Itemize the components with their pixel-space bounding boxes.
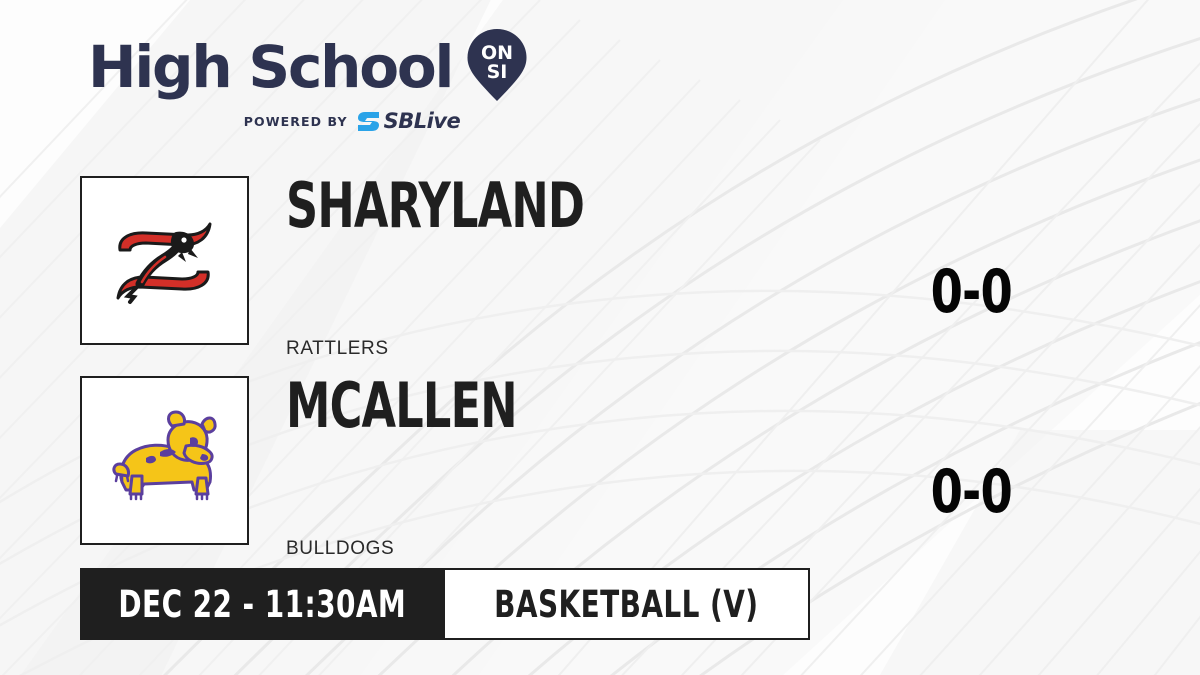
on-si-pin-icon: ON SI (466, 28, 528, 102)
sblive-bolt-icon (357, 111, 381, 132)
home-team-mascot: BULLDOGS (286, 538, 394, 560)
home-team-logo-box (80, 376, 249, 545)
powered-by-label: POWERED BY (244, 114, 348, 129)
home-team-record: 0-0 (931, 462, 1012, 522)
game-datetime-block: DEC 22 - 11:30AM (80, 568, 445, 640)
away-team-logo-inner (82, 178, 247, 343)
game-sport-text: BASKETBALL (V) (494, 583, 758, 626)
game-datetime-text: DEC 22 - 11:30AM (119, 583, 407, 626)
away-team-name: SHARYLAND (286, 175, 584, 237)
rattlesnake-s-logo-icon (102, 198, 227, 323)
pin-badge-line2: SI (487, 61, 508, 83)
away-team-record: 0-0 (931, 262, 1012, 322)
matchup-graphic: High School ON SI POWERED BY SBLive (0, 0, 1200, 675)
game-info-bar: DEC 22 - 11:30AM BASKETBALL (V) (80, 568, 810, 640)
game-sport-block: BASKETBALL (V) (445, 568, 810, 640)
home-team-logo-inner (82, 378, 247, 543)
away-team-mascot: RATTLERS (286, 338, 389, 360)
sblive-logo: SBLive (357, 111, 461, 132)
sblive-wordmark: SBLive (384, 111, 461, 132)
powered-by-row: POWERED BY SBLive (196, 111, 508, 132)
bulldog-logo-icon (102, 398, 227, 523)
brand-header: High School ON SI POWERED BY SBLive (88, 32, 508, 132)
site-title: High School (88, 38, 452, 96)
home-team-name: MCALLEN (286, 375, 517, 437)
away-team-logo-box (80, 176, 249, 345)
brand-title-row: High School ON SI (88, 32, 508, 102)
